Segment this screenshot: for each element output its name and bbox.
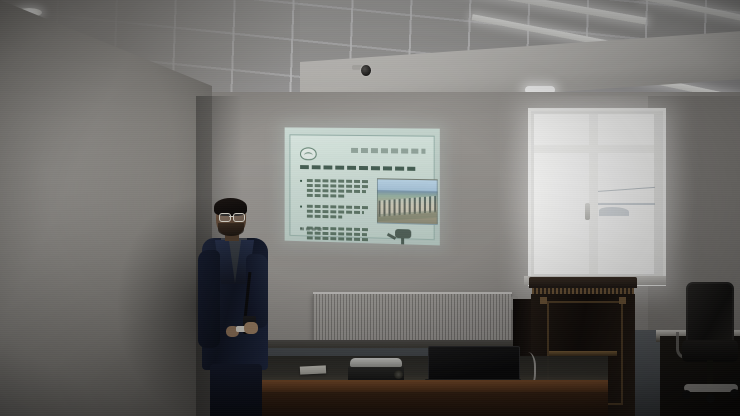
slide-bullet [300,205,369,207]
lectern-stud [540,297,547,304]
chair-seat [682,340,738,362]
slide-footer-text [300,227,321,231]
slide-diagram [381,227,423,246]
presenter-arm [198,250,220,348]
lectern-stud [619,297,626,304]
window-mullion [589,114,598,274]
slide-title-text [300,165,415,171]
office-chair[interactable] [680,282,740,416]
lectern-beading [532,288,634,294]
presenter-legs [210,364,262,416]
window-view-hill [599,207,629,216]
slide-bullet [300,179,369,180]
projected-slide [285,127,440,245]
glasses-icon [219,213,244,220]
window-pane [596,114,654,146]
radiator [313,292,512,341]
presenter-beard [218,223,244,236]
chair-caster [682,390,691,399]
bullet-dot-icon [300,206,302,208]
slide-logo-icon [300,147,317,160]
bullet-dot-icon [300,180,302,182]
projector-lid [350,358,402,367]
presenter [190,198,285,416]
camera-dome [360,64,372,77]
projector-lens [394,370,403,379]
slide-header-text [351,148,425,154]
photo-scene [0,0,740,416]
window-handle[interactable] [585,203,590,220]
security-camera-icon [352,63,369,76]
laptop-screen [428,346,520,382]
chair-caster [730,389,739,398]
slide-photo [377,178,438,225]
lectern-top [529,277,637,288]
window-pane [534,114,591,146]
presenter-hand [244,322,258,334]
presentation-table-front [228,392,608,416]
window [528,108,666,286]
window-view-horizon [597,203,655,205]
papers [300,365,326,374]
window-pane [534,152,591,274]
chair-caster [706,394,715,403]
slide-content-area [289,134,434,240]
table-surface [236,356,608,382]
